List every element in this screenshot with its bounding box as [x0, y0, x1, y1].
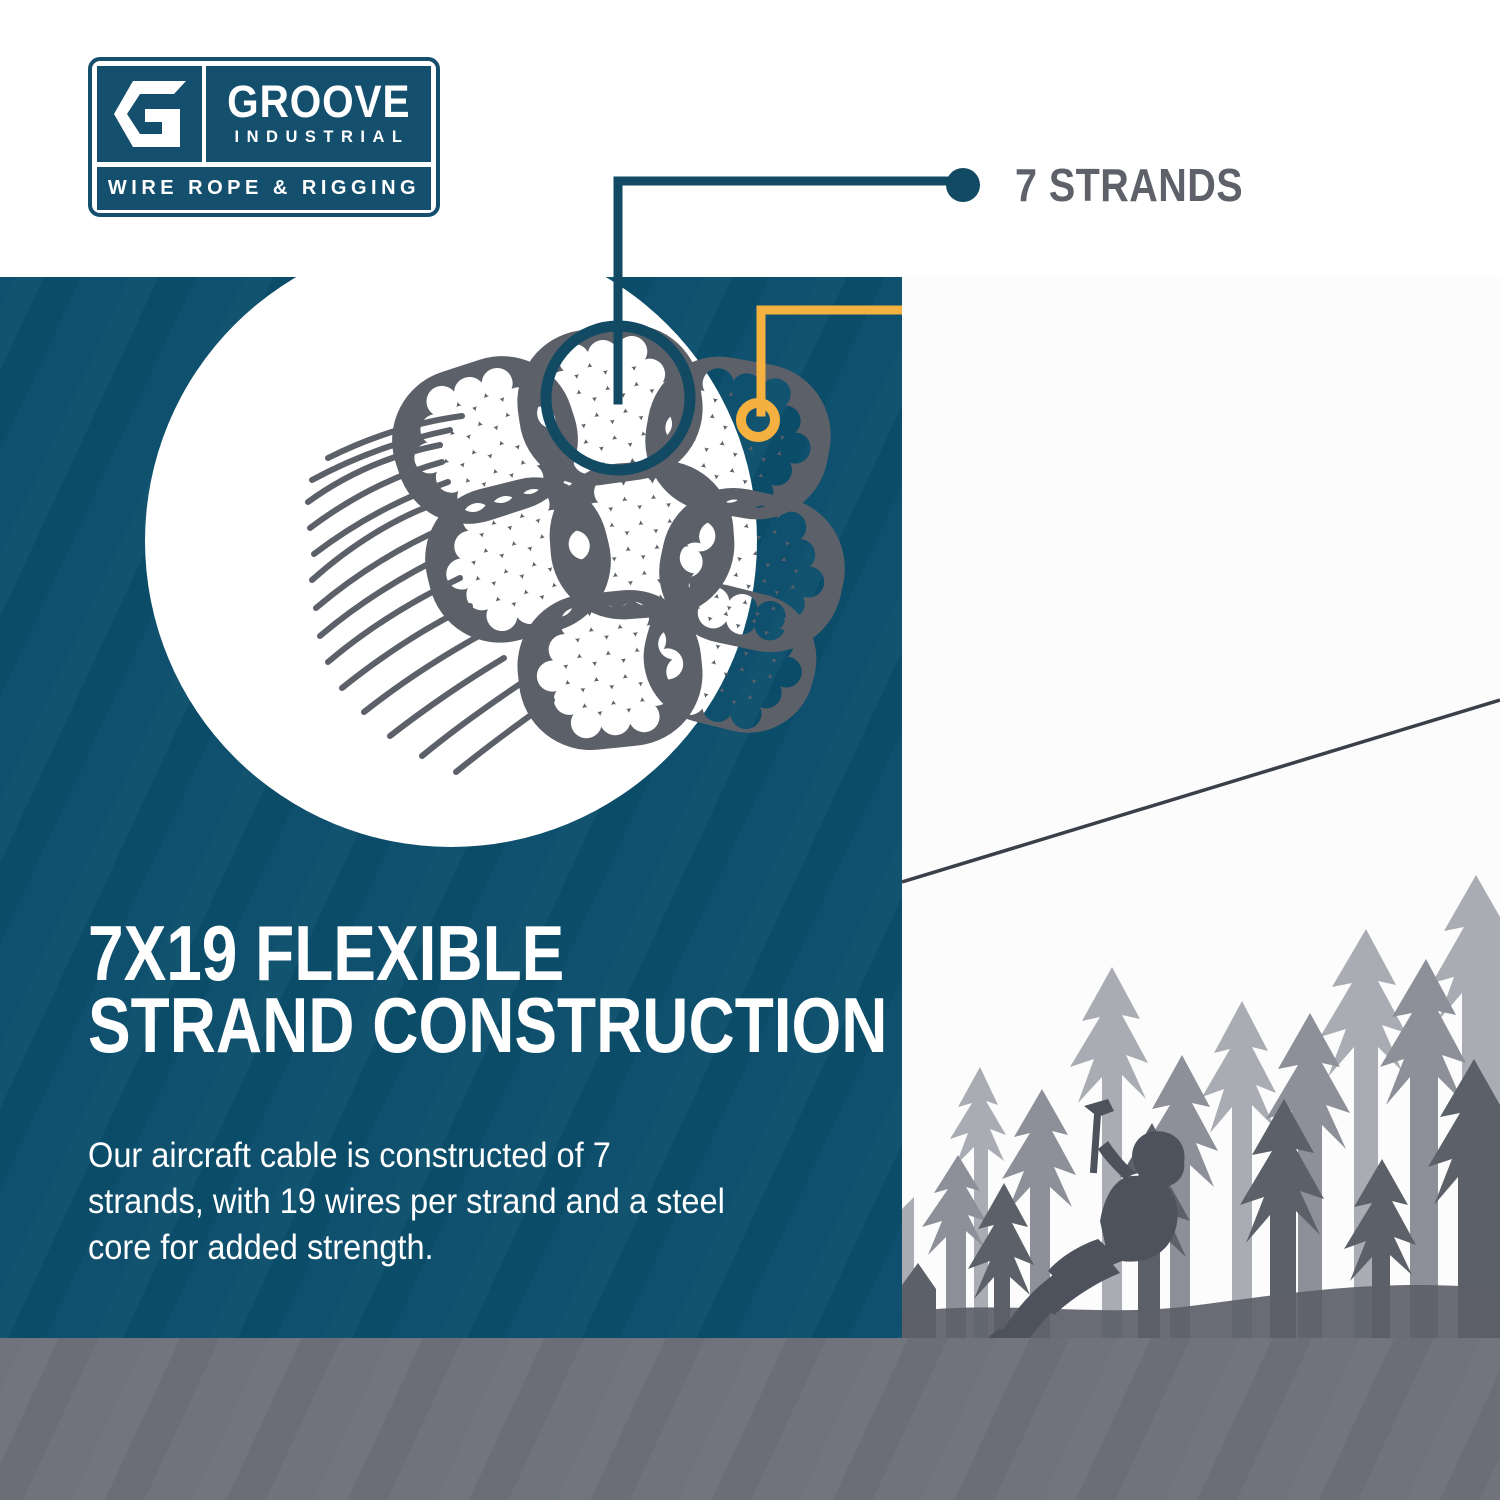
callout-7-strands[interactable]: 7 STRANDS [946, 162, 1280, 208]
brand-logo[interactable]: GROOVE INDUSTRIAL WIRE ROPE & RIGGING [88, 57, 440, 217]
logo-tagline-bar: WIRE ROPE & RIGGING [97, 167, 431, 210]
logo-brand-sub: INDUSTRIAL [228, 128, 410, 147]
infographic-canvas: GROOVE INDUSTRIAL WIRE ROPE & RIGGING [0, 0, 1500, 1500]
logo-brand-name: GROOVE [227, 81, 410, 123]
bottom-accent-band [0, 1338, 1500, 1500]
logo-tagline: WIRE ROPE & RIGGING [108, 177, 420, 200]
logo-top-row: GROOVE INDUSTRIAL [97, 66, 431, 162]
headline-line-1: 7X19 FLEXIBLE [88, 918, 736, 990]
logo-inner: GROOVE INDUSTRIAL WIRE ROPE & RIGGING [97, 66, 431, 208]
headline-line-2: STRAND CONSTRUCTION [88, 990, 736, 1062]
wire-rope-illustration [290, 270, 850, 810]
zipline-rider-forest-photo [902, 277, 1500, 1338]
logo-wordmark: GROOVE INDUSTRIAL [206, 66, 431, 162]
callout-label: 7 STRANDS [1015, 162, 1243, 208]
leader-dot-navy-icon [946, 168, 980, 202]
body-copy: Our aircraft cable is constructed of 7 s… [88, 1133, 730, 1272]
page-title: 7X19 FLEXIBLE STRAND CONSTRUCTION [88, 918, 736, 1062]
groove-g-icon [97, 66, 202, 162]
